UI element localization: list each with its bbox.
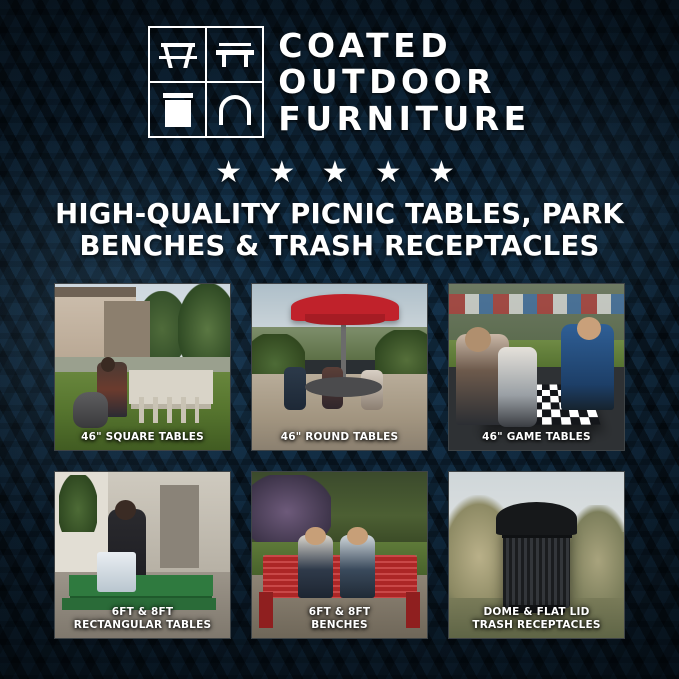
brand-name-line-2: OUTDOOR xyxy=(278,64,530,100)
gallery-caption: 46" GAME TABLES xyxy=(449,426,624,450)
product-gallery: 46" SQUARE TABLES 46" ROUND TABLES xyxy=(54,283,625,639)
arch-receptacle-icon xyxy=(206,82,264,138)
logo-mark xyxy=(148,26,264,138)
caption-line-1: 6FT & 8FT xyxy=(112,606,174,618)
gallery-caption: 46" ROUND TABLES xyxy=(252,426,427,450)
caption-line-1: 46" GAME TABLES xyxy=(482,431,591,443)
gallery-caption: 6FT & 8FT RECTANGULAR TABLES xyxy=(55,601,230,638)
caption-line-1: 46" SQUARE TABLES xyxy=(81,431,204,443)
caption-line-2: RECTANGULAR TABLES xyxy=(74,619,211,631)
caption-line-2: BENCHES xyxy=(311,619,368,631)
brand-wordmark: COATED OUTDOOR FURNITURE xyxy=(278,28,530,137)
gallery-item-trash-receptacles[interactable]: DOME & FLAT LID TRASH RECEPTACLES xyxy=(448,471,625,639)
gallery-item-square-tables[interactable]: 46" SQUARE TABLES xyxy=(54,283,231,451)
gallery-caption: DOME & FLAT LID TRASH RECEPTACLES xyxy=(449,601,624,638)
brand-name-line-1: COATED xyxy=(278,28,530,64)
product-banner: COATED OUTDOOR FURNITURE ★ ★ ★ ★ ★ HIGH-… xyxy=(0,0,679,679)
caption-line-1: 46" ROUND TABLES xyxy=(281,431,399,443)
gallery-item-benches[interactable]: 6FT & 8FT BENCHES xyxy=(251,471,428,639)
gallery-caption: 46" SQUARE TABLES xyxy=(55,426,230,450)
caption-line-1: 6FT & 8FT xyxy=(309,606,371,618)
gallery-item-round-tables[interactable]: 46" ROUND TABLES xyxy=(251,283,428,451)
caption-line-2: TRASH RECEPTACLES xyxy=(472,619,600,631)
headline-line-2: BENCHES & TRASH RECEPTACLES xyxy=(34,230,645,262)
headline-line-1: HIGH-QUALITY PICNIC TABLES, PARK xyxy=(55,198,624,230)
star-rating: ★ ★ ★ ★ ★ xyxy=(0,158,679,188)
park-bench-icon xyxy=(206,26,264,82)
trash-receptacle-icon xyxy=(148,82,206,138)
gallery-item-rectangular-tables[interactable]: 6FT & 8FT RECTANGULAR TABLES xyxy=(54,471,231,639)
page-title: HIGH-QUALITY PICNIC TABLES, PARK BENCHES… xyxy=(0,198,679,263)
gallery-caption: 6FT & 8FT BENCHES xyxy=(252,601,427,638)
gallery-item-game-tables[interactable]: 46" GAME TABLES xyxy=(448,283,625,451)
picnic-table-icon xyxy=(148,26,206,82)
brand-name-line-3: FURNITURE xyxy=(278,101,530,137)
brand-logo: COATED OUTDOOR FURNITURE xyxy=(0,26,679,138)
caption-line-1: DOME & FLAT LID xyxy=(483,606,589,618)
